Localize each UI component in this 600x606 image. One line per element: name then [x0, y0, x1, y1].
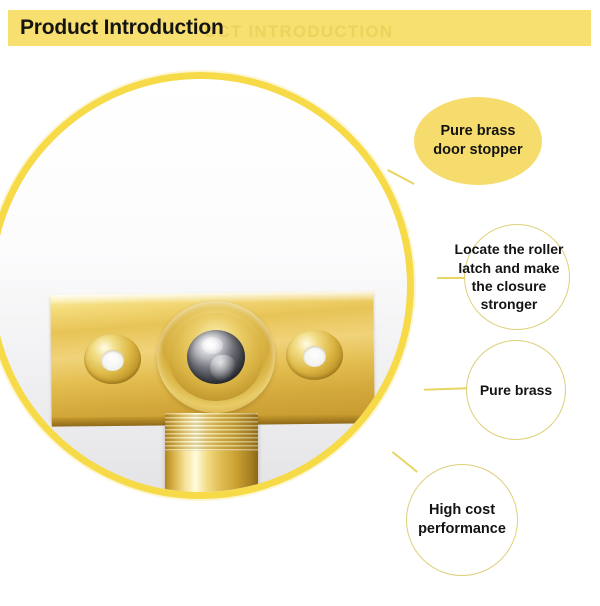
header-ghost-text: UCT INTRODUCTION	[204, 22, 393, 42]
header-bar: UCT INTRODUCTION Product Introduction	[8, 10, 591, 46]
callout-3-text: Pure brass	[476, 381, 556, 399]
roller-housing	[156, 300, 275, 413]
chrome-roller-ball	[186, 330, 245, 385]
page-title: Product Introduction	[20, 16, 224, 40]
callout-roller-latch-closure: Locate the rollerlatch and makethe closu…	[464, 224, 570, 330]
product-photo-circle	[0, 72, 414, 499]
connector-line-4	[392, 451, 418, 472]
callout-high-cost-performance: High costperformance	[406, 464, 518, 576]
callout-4-text: High costperformance	[414, 501, 510, 539]
product-introduction-page: UCT INTRODUCTION Product Introduction Pu…	[0, 0, 600, 606]
threaded-brass-barrel	[165, 413, 258, 499]
callout-pure-brass-door-stopper: Pure brassdoor stopper	[414, 97, 542, 185]
barrel-threads	[165, 413, 258, 451]
callout-pure-brass: Pure brass	[466, 340, 566, 440]
callout-1-text: Pure brassdoor stopper	[429, 122, 526, 160]
roller-ring	[168, 313, 263, 401]
connector-line-1	[387, 169, 414, 184]
countersunk-screw-hole-right	[286, 330, 344, 381]
connector-line-3	[424, 387, 468, 390]
callout-2-text: Locate the rollerlatch and makethe closu…	[449, 240, 569, 314]
brass-mounting-plate	[50, 291, 374, 419]
countersunk-screw-hole-left	[84, 334, 142, 385]
